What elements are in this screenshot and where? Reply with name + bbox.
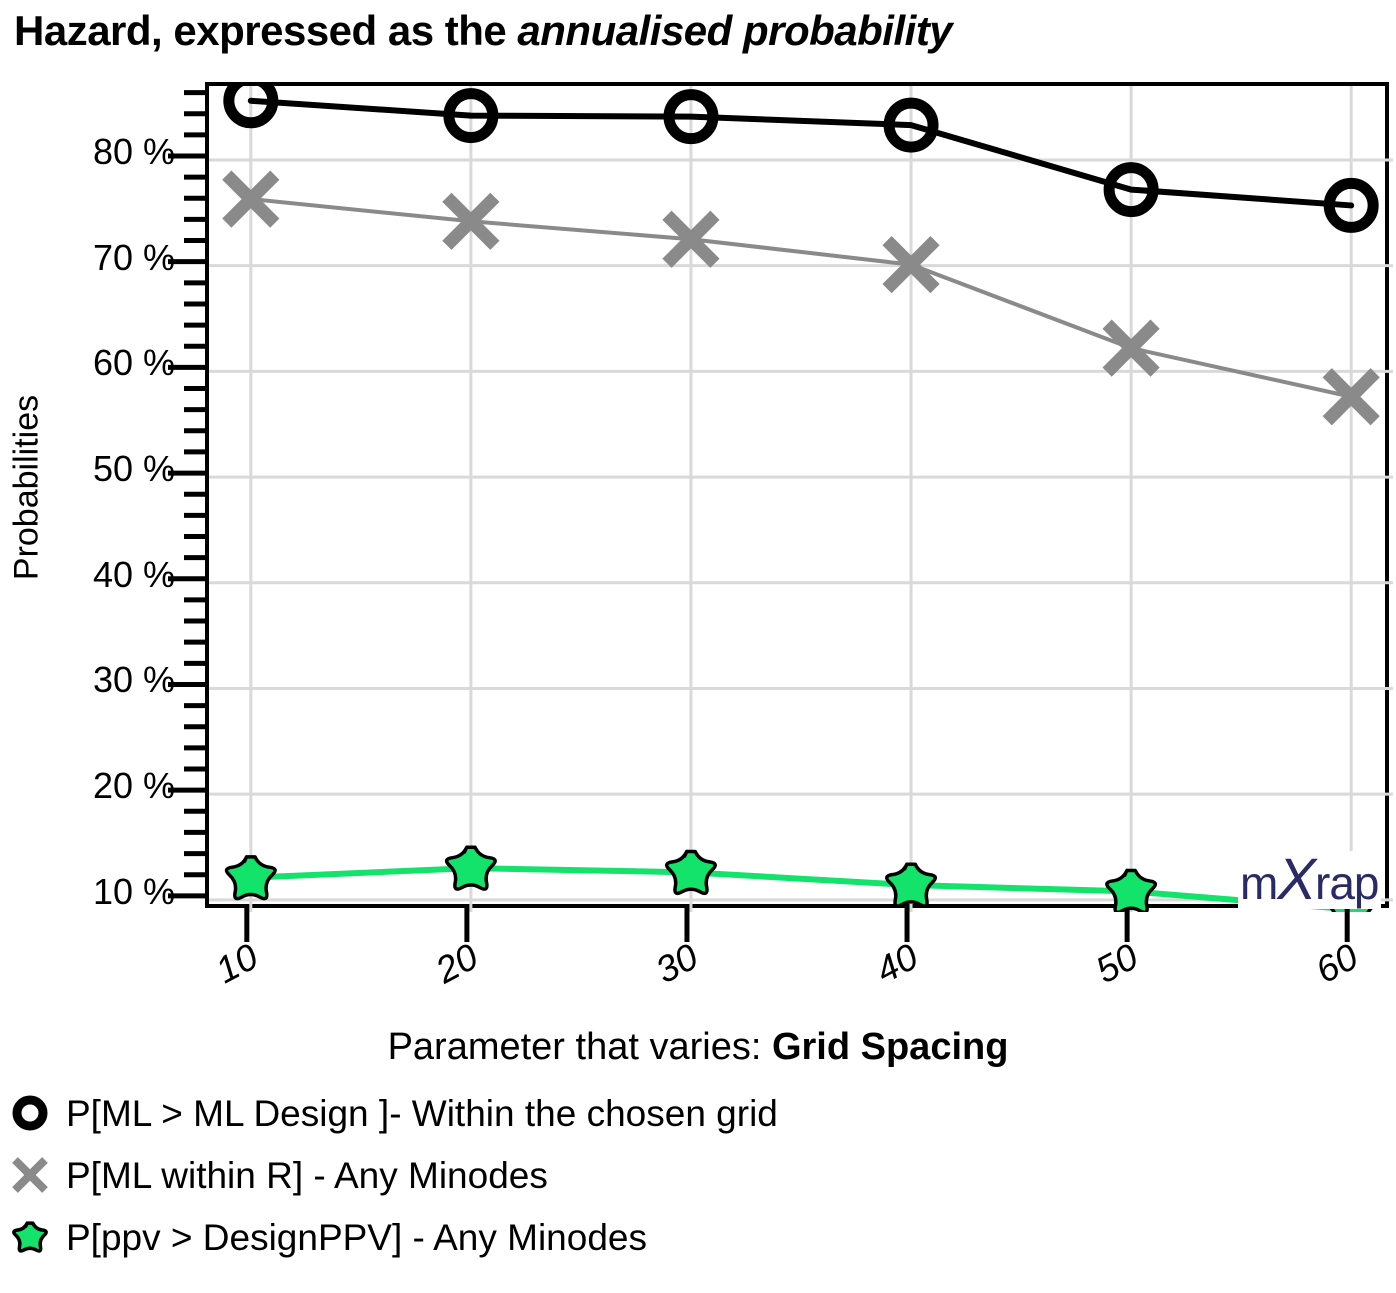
circle-open-marker: [4, 1087, 56, 1139]
series-line: [251, 199, 1351, 397]
circle-open-marker: [7, 1090, 53, 1136]
legend-item[interactable]: P[ML within R] - Any Minodes: [0, 1144, 1396, 1206]
watermark-text-tail: rap: [1315, 857, 1378, 909]
data-series-layer: [227, 86, 1376, 912]
watermark-x-glyph: X: [1277, 847, 1315, 912]
star-blob-marker: [4, 1211, 56, 1263]
x-axis-title-bold: Grid Spacing: [772, 1026, 1008, 1068]
star-blob-marker: [7, 1214, 53, 1260]
chart-page: Hazard, expressed as the annualised prob…: [0, 0, 1396, 1293]
star-blob-marker: [447, 847, 496, 889]
star-blob-marker: [667, 852, 716, 894]
title-italic: annualised probability: [517, 7, 952, 54]
watermark-text: m: [1240, 857, 1277, 909]
series-2: [227, 175, 1375, 421]
star-blob-marker: [887, 864, 936, 906]
cross-marker: [4, 1149, 56, 1201]
y-axis-tick-label: 40 %: [55, 557, 175, 593]
legend-item-label: P[ML within R] - Any Minodes: [66, 1157, 548, 1194]
chart-legend: P[ML > ML Design ]- Within the chosen gr…: [0, 1082, 1396, 1268]
y-axis-tick-label: 30 %: [55, 662, 175, 698]
legend-item-label: P[ML > ML Design ]- Within the chosen gr…: [66, 1095, 778, 1132]
y-axis-tick-label: 50 %: [55, 451, 175, 487]
series-1: [229, 86, 1373, 227]
series-line: [251, 101, 1351, 206]
legend-item-label: P[ppv > DesignPPV] - Any Minodes: [66, 1219, 647, 1256]
gridlines: [209, 86, 1393, 912]
legend-item[interactable]: P[ppv > DesignPPV] - Any Minodes: [0, 1206, 1396, 1268]
star-blob-marker: [227, 857, 276, 899]
legend-item[interactable]: P[ML > ML Design ]- Within the chosen gr…: [0, 1082, 1396, 1144]
cross-marker: [7, 1152, 53, 1198]
x-axis-ticks: [195, 906, 1396, 946]
series-line: [251, 868, 1351, 909]
mxrap-watermark-logo: mXrap: [1238, 851, 1381, 909]
y-axis-tick-label: 80 %: [55, 134, 175, 170]
y-axis-title: Probabilities: [8, 278, 47, 698]
plot-canvas: [209, 86, 1393, 912]
x-axis-title: Parameter that varies: Grid Spacing: [0, 1026, 1396, 1069]
plot-area: [205, 82, 1389, 908]
series-3: [227, 847, 1376, 912]
page-title: Hazard, expressed as the annualised prob…: [14, 8, 1384, 54]
y-axis-tick-labels: 80 %70 %60 %50 %40 %30 %20 %10 %: [40, 0, 175, 1000]
y-axis-tick-label: 10 %: [55, 874, 175, 910]
y-axis-tick-label: 70 %: [55, 240, 175, 276]
x-axis-title-prefix: Parameter that varies:: [388, 1026, 772, 1068]
y-axis-ticks: [160, 70, 210, 930]
y-axis-tick-label: 20 %: [55, 768, 175, 804]
star-blob-marker: [14, 1223, 46, 1251]
y-axis-tick-label: 60 %: [55, 345, 175, 381]
circle-open-marker: [17, 1100, 43, 1126]
